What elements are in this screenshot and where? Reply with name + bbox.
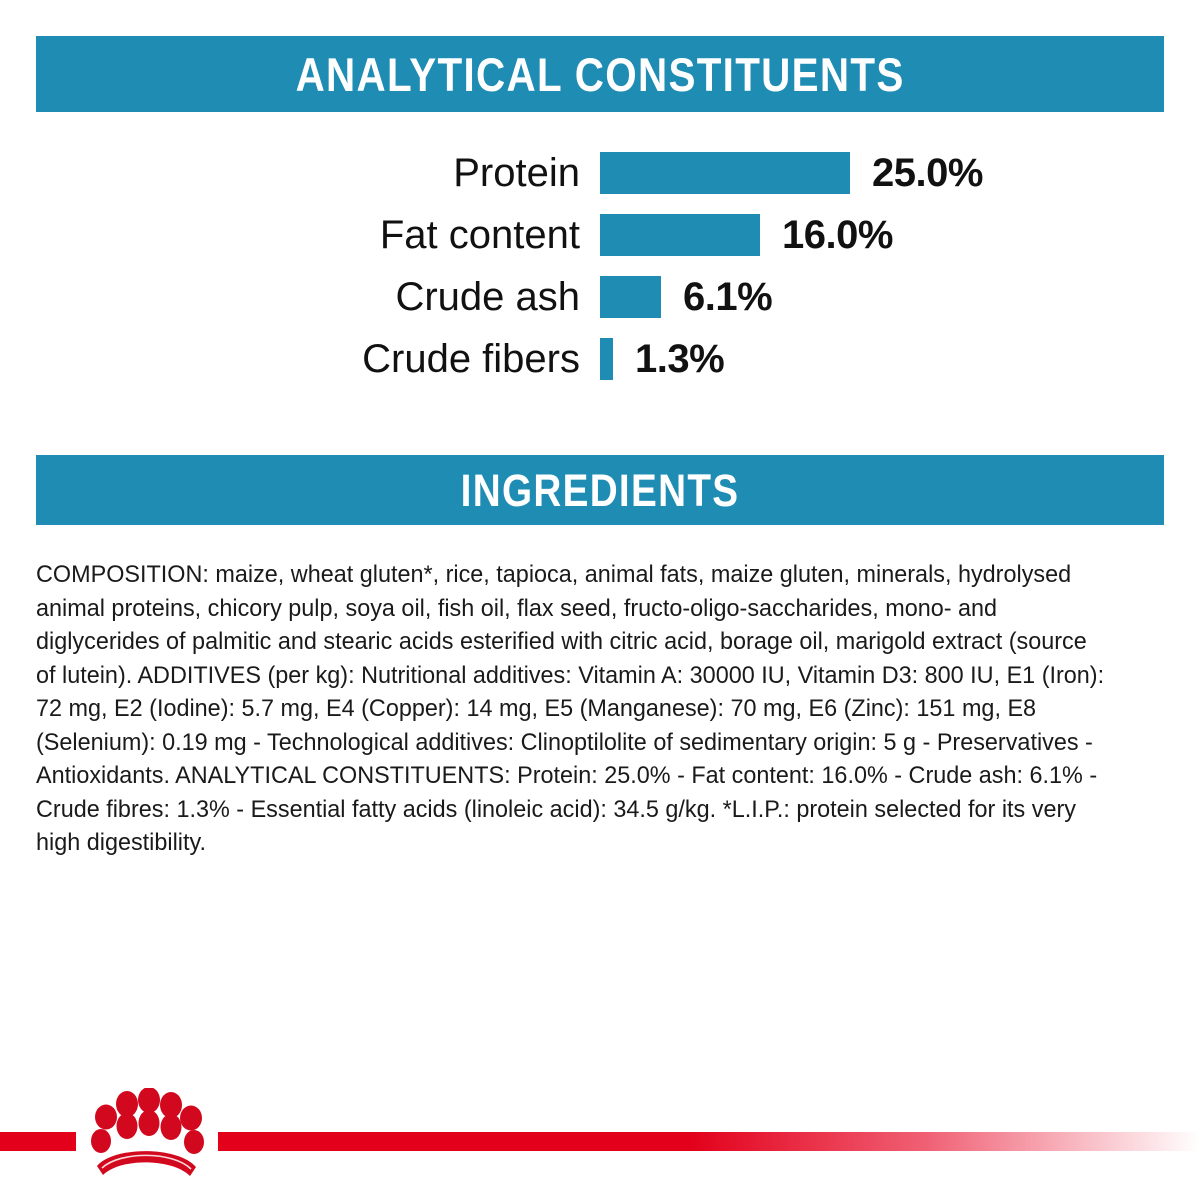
brand-footer: [0, 1080, 1200, 1200]
chart-category-label: Crude fibers: [0, 337, 580, 381]
analytical-constituents-banner: ANALYTICAL CONSTITUENTS: [36, 36, 1164, 112]
chart-row: Fat content 16.0%: [0, 204, 1200, 266]
nutrition-panel: ANALYTICAL CONSTITUENTS Protein 25.0% Fa…: [0, 0, 1200, 1200]
chart-value-label: 6.1%: [683, 276, 772, 318]
ingredients-banner: INGREDIENTS: [36, 455, 1164, 525]
chart-value-label: 16.0%: [782, 214, 893, 256]
chart-value-label: 25.0%: [872, 152, 983, 194]
chart-category-label: Crude ash: [0, 275, 580, 319]
ingredients-composition-text: COMPOSITION: maize, wheat gluten*, rice,…: [36, 558, 1109, 860]
analytical-constituents-chart: Protein 25.0% Fat content 16.0% Crude as…: [0, 142, 1200, 402]
chart-category-label: Fat content: [0, 213, 580, 257]
chart-bar: [600, 214, 760, 256]
analytical-constituents-title: ANALYTICAL CONSTITUENTS: [295, 51, 904, 98]
chart-bar: [600, 338, 613, 380]
chart-bar: [600, 152, 850, 194]
chart-row: Protein 25.0%: [0, 142, 1200, 204]
chart-bar-group: 16.0%: [600, 214, 893, 256]
chart-row: Crude ash 6.1%: [0, 266, 1200, 328]
chart-category-label: Protein: [0, 151, 580, 195]
ingredients-title: INGREDIENTS: [461, 468, 740, 513]
royal-canin-crown-paw-logo: [84, 1088, 208, 1180]
chart-bar-group: 1.3%: [600, 338, 724, 380]
footer-rule-right: [218, 1132, 1200, 1151]
chart-bar-group: 25.0%: [600, 152, 983, 194]
chart-bar: [600, 276, 661, 318]
footer-rule-left: [0, 1132, 76, 1151]
chart-row: Crude fibers 1.3%: [0, 328, 1200, 390]
chart-bar-group: 6.1%: [600, 276, 772, 318]
chart-value-label: 1.3%: [635, 338, 724, 380]
